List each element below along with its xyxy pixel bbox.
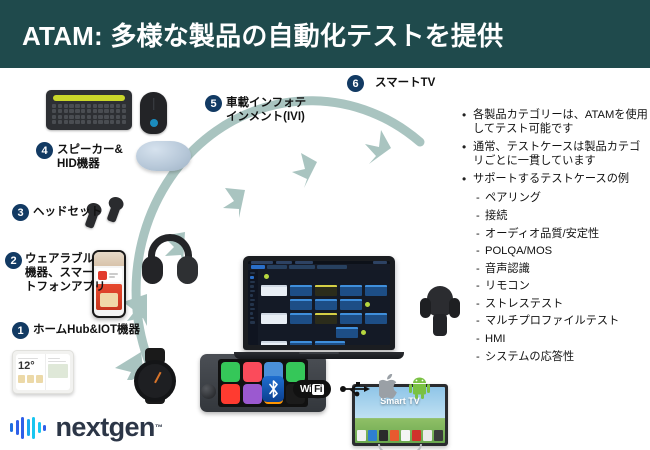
dash-icon: -	[476, 297, 485, 312]
smartwatch-device	[134, 348, 176, 404]
usb-icon	[340, 381, 370, 397]
dash-icon: -	[476, 332, 485, 347]
dash-icon: -	[476, 227, 485, 242]
dash-icon: -	[476, 350, 485, 365]
waveform-icon	[10, 416, 49, 440]
wifi-icon: WiFi	[293, 380, 331, 398]
logo-trademark: ™	[155, 423, 163, 432]
headphones-device	[142, 234, 198, 284]
sub-bullet-text: ストレステスト	[485, 297, 563, 312]
sub-bullet-text: リモコン	[485, 279, 530, 294]
bullet-text: 各製品カテゴリーは、ATAMを使用してテスト可能です	[473, 108, 650, 136]
keyboard-accent-bar	[53, 95, 125, 101]
nextgen-logo: nextgen ™	[10, 412, 163, 443]
wifi-label-wi: Wi	[300, 384, 311, 395]
mouse-device	[140, 92, 167, 134]
sub-bullet-text: オーディオ品質/安定性	[485, 227, 599, 242]
sub-bullet-item: -接続	[476, 209, 650, 224]
bullet-item: • サポートするテストケースの例	[462, 172, 650, 187]
bullet-dot-icon: •	[462, 140, 473, 155]
sub-bullet-item: -オーディオ品質/安定性	[476, 227, 650, 242]
slide-canvas: ATAM: 多様な製品の自動化テストを提供	[0, 0, 650, 450]
keyboard-device	[46, 90, 132, 130]
sub-bullet-text: ペアリング	[485, 191, 541, 206]
sub-bullet-item: -システムの応答性	[476, 350, 650, 365]
category-badge-2: 2	[5, 252, 22, 269]
bullet-list: • 各製品カテゴリーは、ATAMを使用してテスト可能です • 通常、テストケース…	[462, 108, 650, 367]
sub-bullet-text: システムの応答性	[485, 350, 574, 365]
bullet-text: サポートするテストケースの例	[473, 172, 650, 186]
dash-icon: -	[476, 314, 485, 329]
smart-display-temperature: 12°	[18, 361, 43, 372]
bullet-dot-icon: •	[462, 108, 473, 123]
sub-bullet-text: 音声認識	[485, 262, 530, 277]
sub-bullet-item: -音声認識	[476, 262, 650, 277]
dash-icon: -	[476, 209, 485, 224]
category-label-2: ウェアラブル 機器、スマー トフォンアプリ	[25, 252, 106, 294]
dash-icon: -	[476, 279, 485, 294]
bullet-item: • 各製品カテゴリーは、ATAMを使用してテスト可能です	[462, 108, 650, 136]
sub-bullet-item: -リモコン	[476, 279, 650, 294]
category-label-1: ホームHub&IOT機器	[33, 323, 140, 337]
category-badge-6: 6	[347, 75, 364, 92]
bullet-item: • 通常、テストケースは製品カテゴリごとに一貫しています	[462, 140, 650, 168]
logo-wordmark: nextgen	[56, 412, 155, 443]
slide-header: ATAM: 多様な製品の自動化テストを提供	[0, 0, 650, 68]
wifi-label-fi: Fi	[312, 384, 324, 395]
sub-bullet-item: -マルチプロファイルテスト	[476, 314, 650, 329]
dash-icon: -	[476, 191, 485, 206]
android-icon	[409, 376, 430, 403]
sub-bullet-text: マルチプロファイルテスト	[485, 314, 619, 329]
sub-bullet-item: -HMI	[476, 332, 650, 347]
dash-icon: -	[476, 244, 485, 259]
bluetooth-icon	[262, 376, 284, 402]
category-label-4: スピーカー& HID機器	[57, 143, 123, 171]
laptop-dashboard	[234, 256, 404, 359]
sub-bullet-text: 接続	[485, 209, 507, 224]
bullet-dot-icon: •	[462, 172, 473, 187]
category-label-3: ヘッドセット	[33, 205, 102, 219]
category-badge-3: 3	[12, 204, 29, 221]
keyboard-keys	[49, 104, 129, 124]
sub-bullet-text: HMI	[485, 332, 506, 347]
sub-bullet-item: -POLQA/MOS	[476, 244, 650, 259]
apple-icon	[379, 374, 400, 404]
category-badge-1: 1	[12, 322, 29, 339]
category-label-6: スマートTV	[375, 76, 435, 90]
laptop-base	[234, 352, 404, 359]
head-simulator-device	[420, 286, 460, 338]
smart-display-device: 12°	[12, 350, 74, 394]
sub-bullet-text: POLQA/MOS	[485, 244, 552, 259]
dash-icon: -	[476, 262, 485, 277]
category-badge-5: 5	[205, 95, 222, 112]
sub-bullet-item: -ストレステスト	[476, 297, 650, 312]
page-title: ATAM: 多様な製品の自動化テストを提供	[0, 16, 503, 53]
bullet-text: 通常、テストケースは製品カテゴリごとに一貫しています	[473, 140, 650, 168]
protocol-icons-row: WiFi	[262, 374, 430, 404]
category-badge-4: 4	[36, 142, 53, 159]
smart-speaker-device	[136, 141, 191, 171]
category-label-5: 車載インフォテ インメント(IVI)	[226, 96, 306, 124]
mouse-led	[150, 119, 158, 127]
sub-bullet-item: -ペアリング	[476, 191, 650, 206]
